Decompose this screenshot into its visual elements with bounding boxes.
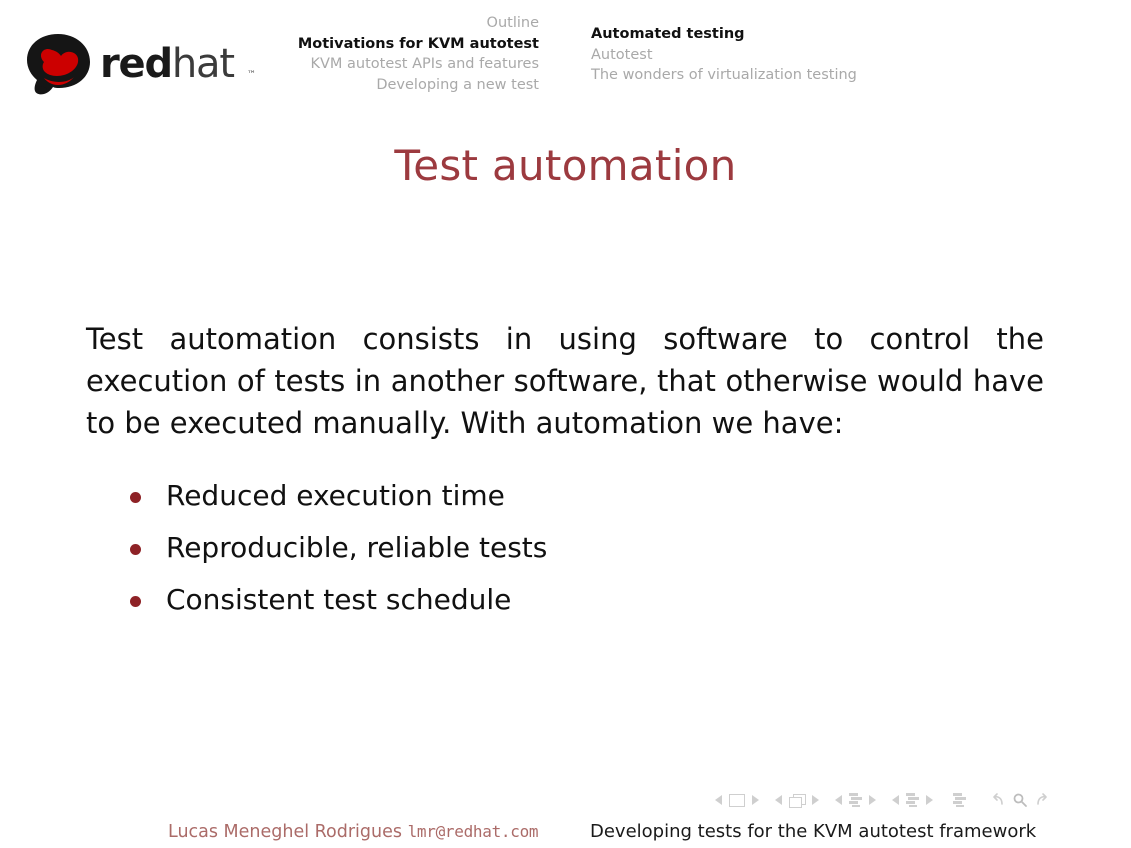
section-nav-group bbox=[892, 793, 933, 807]
nav-subsection-autotest[interactable]: Autotest bbox=[591, 45, 857, 66]
slide-canvas: redhat ™ Outline Motivations for KVM aut… bbox=[0, 0, 1131, 848]
section-icon[interactable] bbox=[906, 793, 919, 807]
list-item-label: Consistent test schedule bbox=[166, 583, 511, 616]
document-nav-group bbox=[953, 792, 1050, 808]
nav-section-developing[interactable]: Developing a new test bbox=[0, 75, 539, 96]
list-item: Reproducible, reliable tests bbox=[126, 522, 1046, 574]
bullet-dot-icon bbox=[130, 492, 141, 503]
next-frame-icon[interactable] bbox=[812, 795, 819, 805]
bullet-dot-icon bbox=[130, 596, 141, 607]
nav-section-apis[interactable]: KVM autotest APIs and features bbox=[0, 54, 539, 75]
slide-body: Test automation consists in using softwa… bbox=[86, 318, 1046, 626]
search-icon[interactable] bbox=[1012, 792, 1028, 808]
slide-nav-group bbox=[715, 794, 759, 807]
subsection-nav-group bbox=[835, 793, 876, 807]
nav-section-motivations[interactable]: Motivations for KVM autotest bbox=[0, 34, 539, 55]
bullet-dot-icon bbox=[130, 544, 141, 555]
footer-document-title: Developing tests for the KVM autotest fr… bbox=[590, 820, 1036, 844]
beamer-navigation-symbols bbox=[715, 789, 1050, 811]
next-section-icon[interactable] bbox=[926, 795, 933, 805]
list-item-label: Reproducible, reliable tests bbox=[166, 531, 547, 564]
section-navigation: Outline Motivations for KVM autotest KVM… bbox=[0, 13, 539, 95]
body-paragraph: Test automation consists in using softwa… bbox=[86, 318, 1044, 444]
prev-slide-icon[interactable] bbox=[715, 795, 722, 805]
nav-subsection-automated-testing[interactable]: Automated testing bbox=[591, 24, 857, 45]
prev-subsection-icon[interactable] bbox=[835, 795, 842, 805]
footer-author-block: Lucas Meneghel Rodrigues lmr@redhat.com bbox=[168, 820, 538, 844]
frame-nav-group bbox=[775, 794, 819, 807]
page-title: Test automation bbox=[0, 140, 1131, 192]
subsection-icon[interactable] bbox=[849, 793, 862, 807]
nav-subsection-wonders[interactable]: The wonders of virtualization testing bbox=[591, 65, 857, 86]
subsection-navigation: Automated testing Autotest The wonders o… bbox=[591, 24, 857, 86]
back-icon[interactable] bbox=[990, 792, 1006, 808]
list-item: Reduced execution time bbox=[126, 470, 1046, 522]
prev-section-icon[interactable] bbox=[892, 795, 899, 805]
footer-email[interactable]: lmr@redhat.com bbox=[408, 822, 539, 841]
list-item: Consistent test schedule bbox=[126, 574, 1046, 626]
benefits-list: Reduced execution time Reproducible, rel… bbox=[86, 470, 1046, 626]
next-subsection-icon[interactable] bbox=[869, 795, 876, 805]
forward-icon[interactable] bbox=[1034, 792, 1050, 808]
footer-author: Lucas Meneghel Rodrigues bbox=[168, 822, 402, 842]
document-icon[interactable] bbox=[953, 793, 966, 807]
nav-section-outline[interactable]: Outline bbox=[0, 13, 539, 34]
list-item-label: Reduced execution time bbox=[166, 479, 505, 512]
next-slide-icon[interactable] bbox=[752, 795, 759, 805]
slide-icon[interactable] bbox=[729, 794, 745, 807]
frame-icon[interactable] bbox=[789, 794, 805, 807]
prev-frame-icon[interactable] bbox=[775, 795, 782, 805]
slide-header: redhat ™ Outline Motivations for KVM aut… bbox=[0, 0, 1131, 110]
